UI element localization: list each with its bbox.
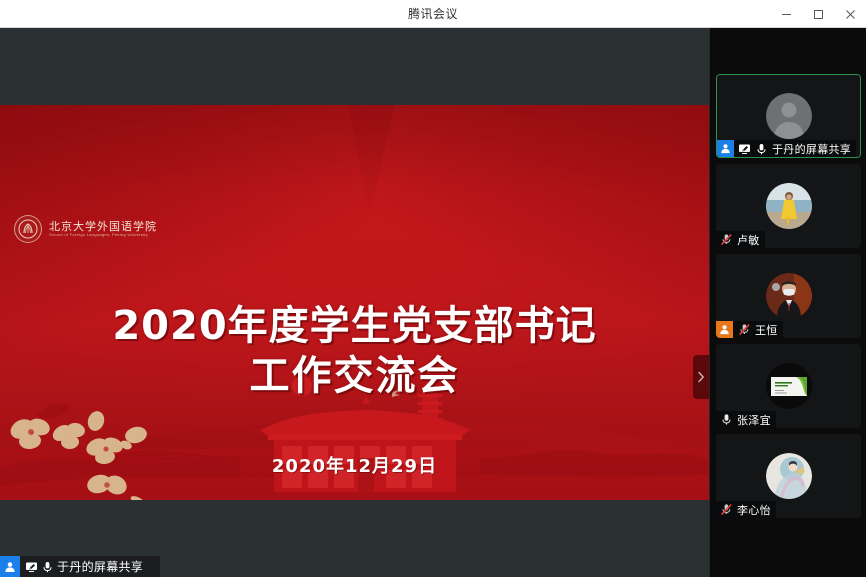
logo-chinese-name: 北京大学外国语学院: [49, 221, 157, 233]
tencent-meeting-window: 腾讯会议: [0, 0, 866, 577]
person-icon: [717, 140, 734, 157]
sharing-user-name: 于丹的屏幕共享: [57, 558, 147, 575]
collapse-panel-button[interactable]: [693, 355, 709, 399]
participant-tile-4[interactable]: 李心怡: [716, 434, 861, 518]
slide-title-line1: 2020年度学生党支部书记: [0, 301, 709, 351]
title-bar: 腾讯会议: [0, 0, 866, 28]
participant-tile-1[interactable]: 卢敏: [716, 164, 861, 248]
participant-sidebar[interactable]: 于丹的屏幕共享: [709, 28, 866, 577]
status-icons: [20, 560, 57, 574]
slide-title-line2: 工作交流会: [0, 351, 709, 401]
participant-label-2: 王恒: [716, 321, 783, 338]
logo-english-name: School of Foreign Languages, Peking Univ…: [49, 233, 176, 237]
participant-name-2: 王恒: [751, 322, 778, 338]
illustration-figure: [766, 453, 812, 499]
window-title: 腾讯会议: [408, 5, 458, 22]
photo-woman-yellow-dress: [766, 183, 812, 229]
magnolia-flower-decoration: [2, 393, 202, 500]
participant-tile-3[interactable]: 张泽宜: [716, 344, 861, 428]
participant-label-3: 张泽宜: [716, 411, 776, 428]
window-controls: [770, 0, 866, 28]
microphone-icon: [40, 560, 54, 574]
photo-man-suit-mask: [766, 273, 812, 319]
university-logo: 北京大学外国语学院 School of Foreign Languages, P…: [14, 215, 157, 243]
participant-tile-0[interactable]: 于丹的屏幕共享: [716, 74, 861, 158]
slide-swoosh-right: [348, 105, 709, 334]
maximize-button[interactable]: [802, 0, 834, 28]
microphone-muted-icon: [737, 323, 751, 337]
participant-label-4: 李心怡: [716, 501, 776, 518]
participant-tile-2[interactable]: 王恒: [716, 254, 861, 338]
document-cover-green: [766, 363, 812, 409]
shared-screen-stage[interactable]: 北京大学外国语学院 School of Foreign Languages, P…: [0, 28, 709, 577]
person-icon: [0, 556, 20, 577]
participant-name-0: 于丹的屏幕共享: [768, 141, 851, 157]
slide-title: 2020年度学生党支部书记 工作交流会: [0, 301, 709, 401]
presentation-slide: 北京大学外国语学院 School of Foreign Languages, P…: [0, 105, 709, 500]
slide-date: 2020年12月29日: [0, 452, 709, 478]
minimize-button[interactable]: [770, 0, 802, 28]
microphone-icon: [716, 411, 733, 428]
screen-share-icon: [737, 142, 751, 156]
default-person-avatar: [766, 93, 812, 139]
screen-share-icon: [24, 560, 38, 574]
close-button[interactable]: [834, 0, 866, 28]
peking-university-seal-icon: [14, 215, 42, 243]
participant-name-4: 李心怡: [733, 502, 771, 518]
participant-name-1: 卢敏: [733, 232, 760, 248]
microphone-icon: [754, 142, 768, 156]
participant-label-1: 卢敏: [716, 231, 765, 248]
participant-name-3: 张泽宜: [733, 412, 771, 428]
microphone-muted-icon: [716, 231, 733, 248]
sharing-status-bar: 于丹的屏幕共享: [0, 556, 160, 577]
participant-label-0: 于丹的屏幕共享: [717, 140, 856, 157]
host-icon: [716, 321, 733, 338]
microphone-muted-icon: [716, 501, 733, 518]
